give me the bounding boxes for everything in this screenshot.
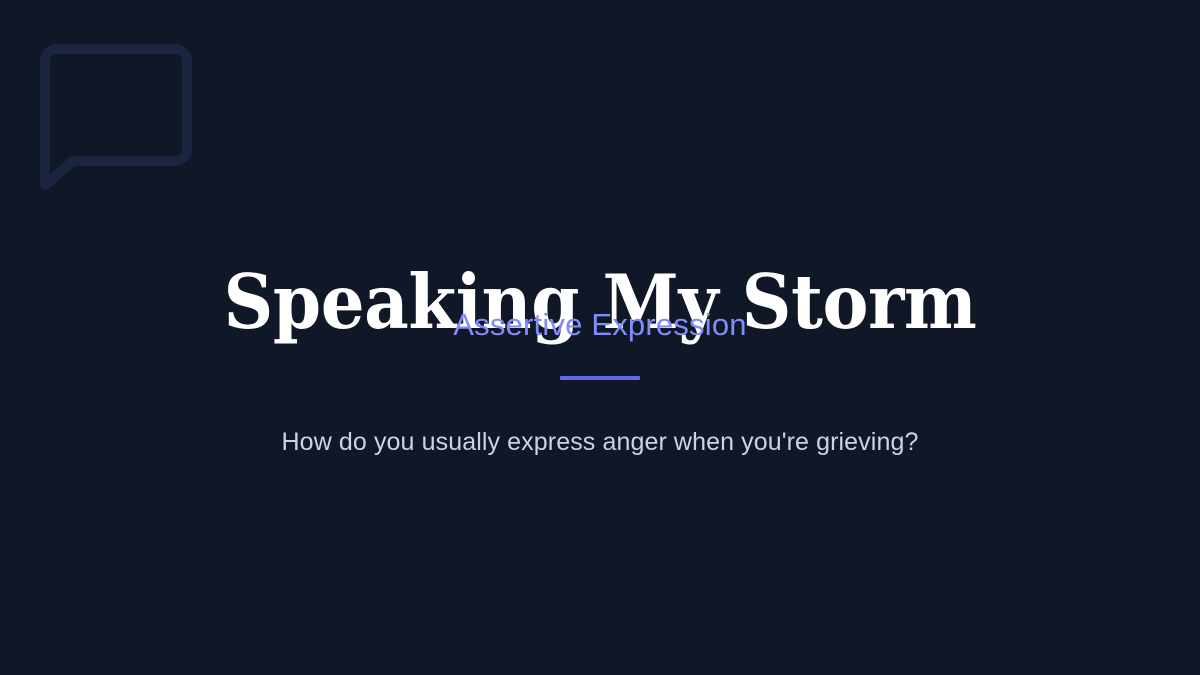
slide-content: Speaking My Storm Assertive Expression H… — [0, 0, 1200, 675]
slide-subtitle: Assertive Expression — [0, 306, 1200, 344]
prompt-question: How do you usually express anger when yo… — [0, 425, 1200, 459]
slide-root: Speaking My Storm Assertive Expression H… — [0, 0, 1200, 675]
divider — [560, 376, 640, 380]
